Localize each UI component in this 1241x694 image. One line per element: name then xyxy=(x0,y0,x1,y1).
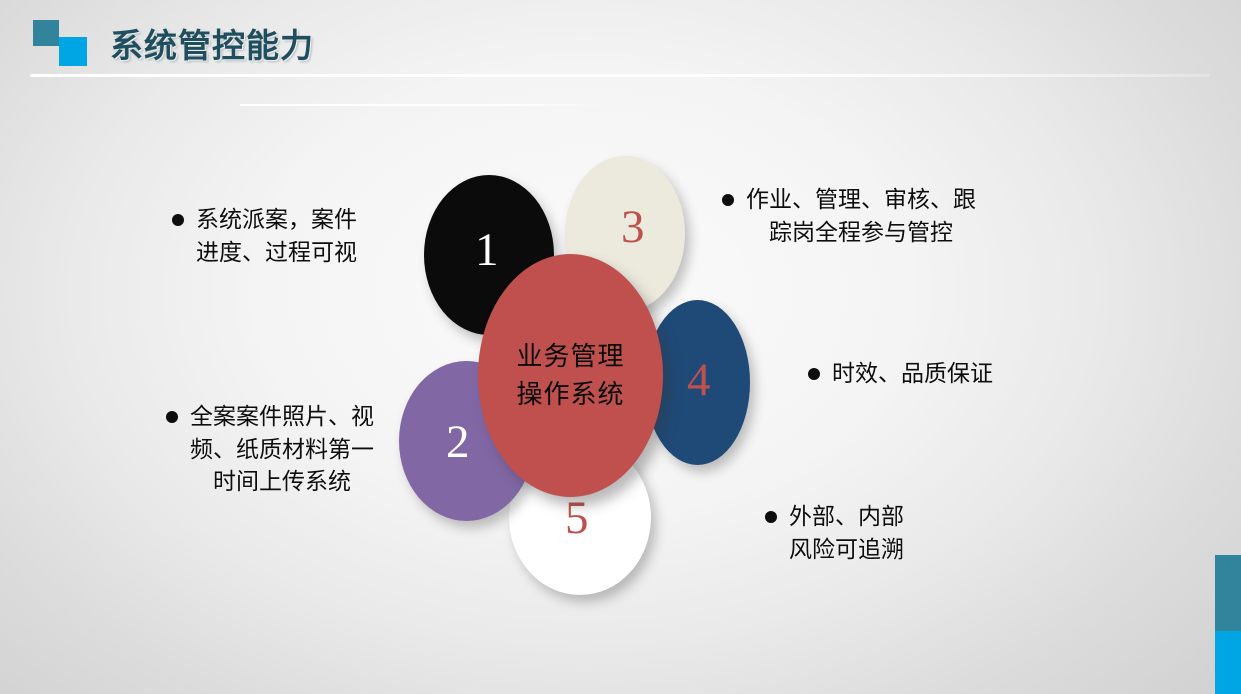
bullet-right-3-text: 外部、内部 风险可追溯 xyxy=(789,500,904,565)
bullet-dot-icon xyxy=(172,214,184,226)
bullet-right-2: 时效、品质保证 xyxy=(808,357,1048,390)
petal-3-number: 3 xyxy=(621,204,645,251)
bullet-left-1: 系统派案，案件 进度、过程可视 xyxy=(172,203,417,268)
bullet-dot-icon xyxy=(722,194,734,206)
bullet-dot-icon xyxy=(765,511,777,523)
petal-5-number: 5 xyxy=(565,495,589,542)
petal-1-number: 1 xyxy=(475,227,499,274)
bullet-dot-icon xyxy=(808,368,820,380)
bullet-left-2: 全案案件照片、视 频、纸质材料第一 时间上传系统 xyxy=(166,400,424,498)
bullet-left-2-text: 全案案件照片、视 频、纸质材料第一 时间上传系统 xyxy=(190,400,374,498)
petal-4-number: 4 xyxy=(687,357,711,404)
bullet-left-1-text: 系统派案，案件 进度、过程可视 xyxy=(196,203,357,268)
bullet-right-3: 外部、内部 风险可追溯 xyxy=(765,500,995,565)
bullet-right-1: 作业、管理、审核、跟 踪岗全程参与管控 xyxy=(722,183,1037,248)
petal-2-number: 2 xyxy=(446,419,470,466)
slide-canvas: 系统管控能力 1 3 2 4 5 业务管理 操作系统 系统派案，案件 进度、过程… xyxy=(0,0,1241,694)
bullet-right-2-text: 时效、品质保证 xyxy=(832,357,993,390)
petal-center-label-line2: 操作系统 xyxy=(516,376,624,414)
petal-center-label-line1: 业务管理 xyxy=(516,338,624,376)
petal-center[interactable]: 业务管理 操作系统 xyxy=(478,254,663,497)
bullet-right-1-text: 作业、管理、审核、跟 踪岗全程参与管控 xyxy=(746,183,976,248)
bullet-dot-icon xyxy=(166,411,178,423)
petal-diagram: 1 3 2 4 5 业务管理 操作系统 xyxy=(0,0,1241,694)
